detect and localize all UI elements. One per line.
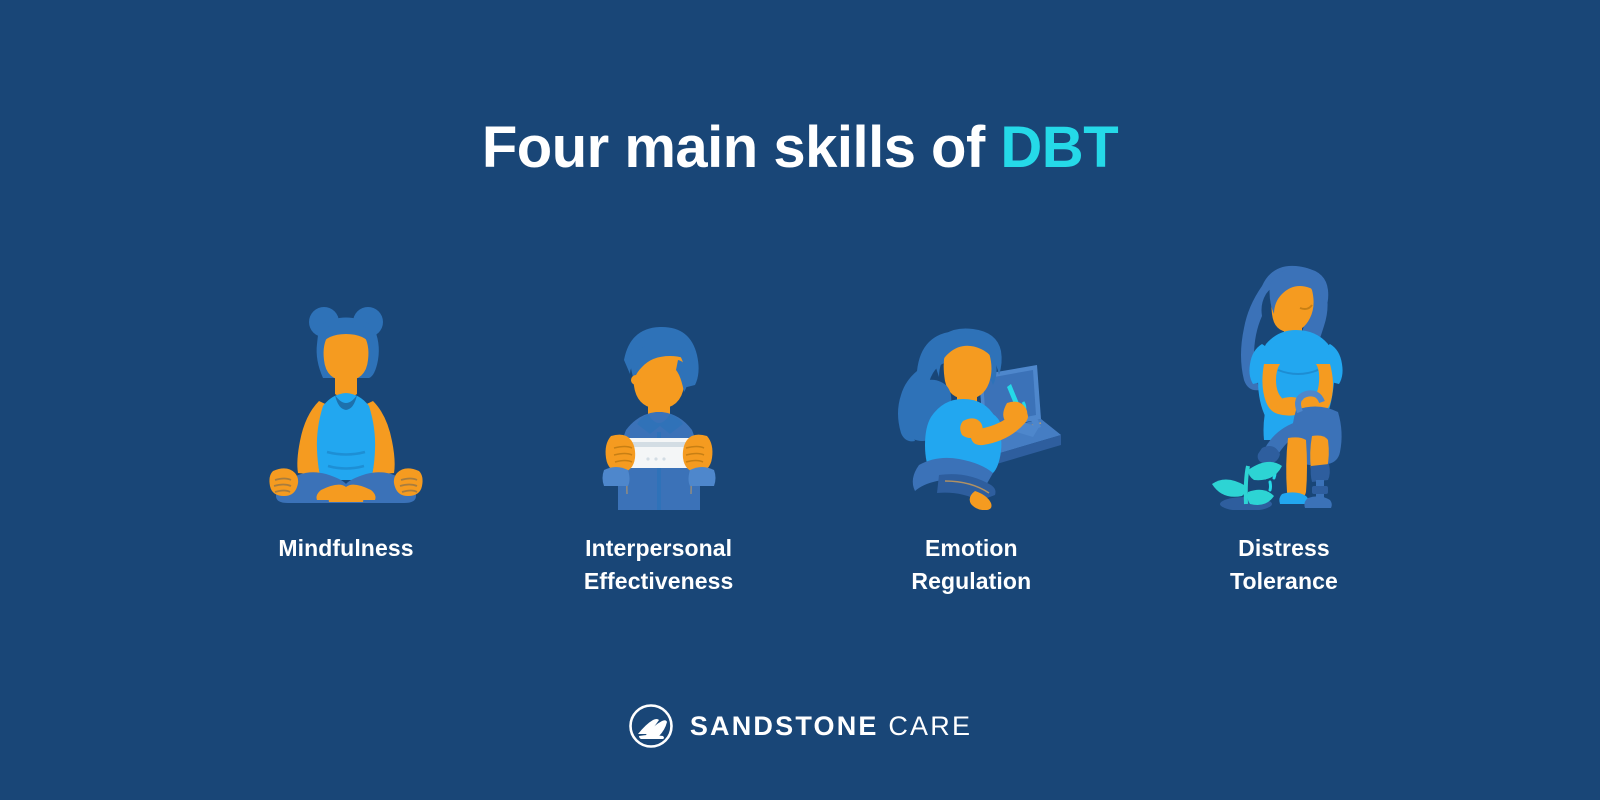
title-main-text: Four main skills of: [482, 115, 1001, 180]
title-block: Four main skills of DBT: [0, 118, 1600, 179]
title-accent-text: DBT: [1000, 115, 1118, 180]
skill-label-mindfulness: Mindfulness: [278, 532, 413, 565]
skill-card-distress-tolerance: Distress Tolerance: [1128, 250, 1440, 599]
skill-label-emotion-regulation: Emotion Regulation: [911, 532, 1031, 599]
skill-label-distress-tolerance: Distress Tolerance: [1230, 532, 1338, 599]
person-watering-plant-illustration: [1159, 250, 1409, 510]
infographic-canvas: Four main skills of DBT: [0, 0, 1600, 800]
meditating-person-illustration: [221, 250, 471, 510]
skill-card-interpersonal-effectiveness: Interpersonal Effectiveness: [503, 250, 815, 599]
skill-card-mindfulness: Mindfulness: [190, 250, 502, 565]
person-at-desk-tablet-illustration: [846, 250, 1096, 510]
person-holding-phone-illustration: [534, 250, 784, 510]
skill-label-interpersonal-effectiveness: Interpersonal Effectiveness: [584, 532, 734, 599]
skill-card-emotion-regulation: Emotion Regulation: [815, 250, 1127, 599]
page-title: Four main skills of DBT: [0, 118, 1600, 179]
sandstone-circle-mountain-icon: [628, 703, 674, 749]
brand-logo: SANDSTONE CARE: [0, 703, 1600, 749]
brand-word-sandstone: SANDSTONE: [690, 711, 879, 741]
skills-row: Mindfulness: [190, 250, 1440, 610]
brand-logo-text: SANDSTONE CARE: [690, 713, 972, 740]
brand-word-care: CARE: [888, 711, 972, 741]
